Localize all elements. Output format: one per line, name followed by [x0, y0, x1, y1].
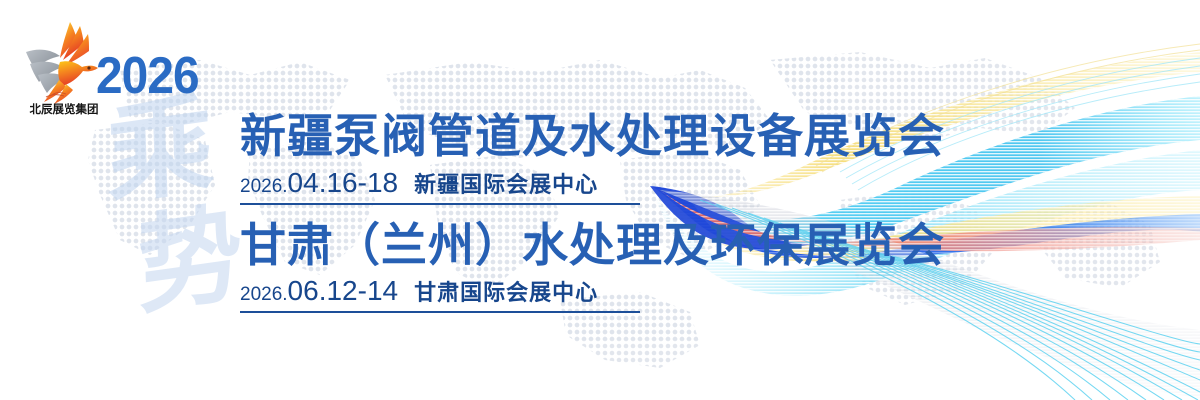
- event-date-main-1: 04.16-18: [288, 169, 399, 197]
- event-group-1: 新疆泵阀管道及水处理设备展览会 2026. 04.16-18 新疆国际会展中心: [240, 112, 940, 205]
- event-title-2: 甘肃（兰州）水处理及环保展览会: [240, 221, 940, 271]
- watermark-char-2: 势: [135, 191, 244, 330]
- event-divider-1: [240, 203, 640, 205]
- event-date-prefix-2: 2026.: [240, 284, 288, 306]
- year-2026: 2026: [96, 50, 199, 102]
- event-date-prefix-1: 2026.: [240, 176, 288, 198]
- event-text-block: 新疆泵阀管道及水处理设备展览会 2026. 04.16-18 新疆国际会展中心 …: [240, 112, 940, 313]
- logo-bird-body: [58, 61, 98, 86]
- event-title-1: 新疆泵阀管道及水处理设备展览会: [240, 112, 940, 162]
- event-venue-2: 甘肃国际会展中心: [414, 275, 598, 307]
- logo-brand-text: 北辰展览集团: [30, 102, 99, 116]
- event-info-1: 2026. 04.16-18 新疆国际会展中心: [240, 167, 940, 199]
- event-venue-1: 新疆国际会展中心: [414, 167, 598, 199]
- logo-flame-wing: [60, 22, 89, 65]
- event-date-main-2: 06.12-14: [288, 277, 399, 305]
- event-group-2: 甘肃（兰州）水处理及环保展览会 2026. 06.12-14 甘肃国际会展中心: [240, 221, 940, 314]
- event-info-2: 2026. 06.12-14 甘肃国际会展中心: [240, 275, 940, 307]
- event-divider-2: [240, 311, 640, 313]
- exhibition-banner: 乘 势: [0, 0, 1200, 400]
